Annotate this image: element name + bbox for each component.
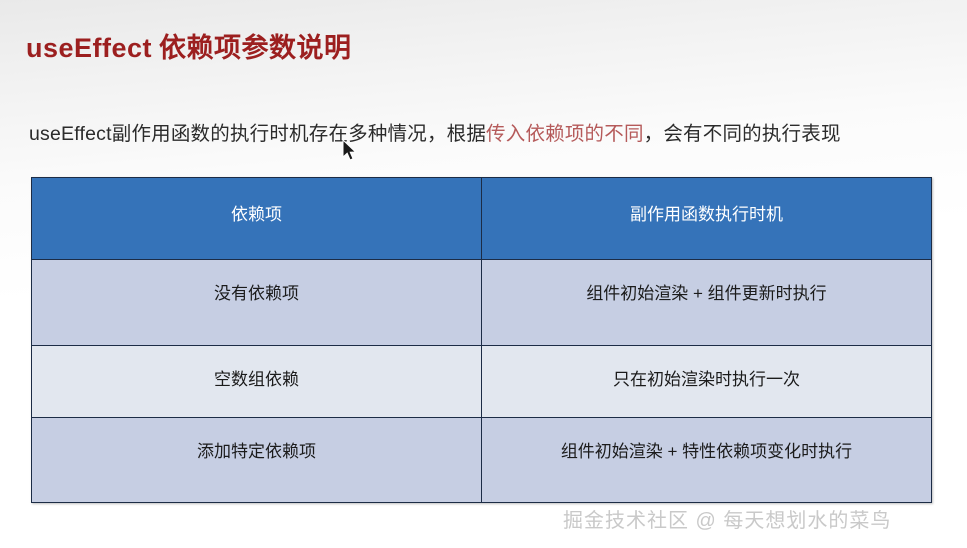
watermark: 掘金技术社区 @ 每天想划水的菜鸟	[563, 504, 891, 533]
table-cell-text: 空数组依赖	[32, 346, 481, 390]
column-header-timing: 副作用函数执行时机	[482, 178, 932, 260]
table-row: 添加特定依赖项 组件初始渲染 + 特性依赖项变化时执行	[32, 418, 932, 503]
table-cell-timing: 只在初始渲染时执行一次	[482, 346, 932, 418]
table-cell-text: 没有依赖项	[32, 260, 481, 304]
subtitle-highlight: 传入依赖项的不同	[486, 123, 644, 145]
table-row: 空数组依赖 只在初始渲染时执行一次	[32, 346, 932, 418]
table-cell-text: 组件初始渲染 + 组件更新时执行	[482, 260, 931, 304]
page-title: useEffect依赖项参数说明	[26, 26, 352, 65]
table-cell-timing: 组件初始渲染 + 组件更新时执行	[482, 260, 932, 346]
table-row: 没有依赖项 组件初始渲染 + 组件更新时执行	[32, 260, 932, 346]
column-header-dependency-label: 依赖项	[32, 178, 481, 225]
table-cell-text: 只在初始渲染时执行一次	[482, 346, 931, 390]
subtitle-part-1: useEffect副作用函数的执行时机存在多种情况，根据	[29, 123, 486, 145]
table-cell-dependency: 空数组依赖	[32, 346, 482, 418]
page-title-en: useEffect	[26, 33, 152, 63]
subtitle-part-2: ，会有不同的执行表现	[644, 123, 841, 145]
table-cell-dependency: 没有依赖项	[32, 260, 482, 346]
dependency-table: 依赖项 副作用函数执行时机 没有依赖项 组件初始渲染 + 组件更新时执行 空数组…	[31, 177, 932, 503]
table-cell-dependency: 添加特定依赖项	[32, 418, 482, 503]
slide-canvas: useEffect依赖项参数说明 useEffect副作用函数的执行时机存在多种…	[0, 0, 967, 548]
table-cell-text: 组件初始渲染 + 特性依赖项变化时执行	[482, 418, 931, 462]
column-header-dependency: 依赖项	[32, 178, 482, 260]
table-cell-timing: 组件初始渲染 + 特性依赖项变化时执行	[482, 418, 932, 503]
subtitle-line: useEffect副作用函数的执行时机存在多种情况，根据传入依赖项的不同，会有不…	[29, 117, 841, 146]
column-header-timing-label: 副作用函数执行时机	[482, 178, 931, 225]
table-header-row: 依赖项 副作用函数执行时机	[32, 178, 932, 260]
table-cell-text: 添加特定依赖项	[32, 418, 481, 462]
page-title-cn: 依赖项参数说明	[159, 33, 352, 63]
